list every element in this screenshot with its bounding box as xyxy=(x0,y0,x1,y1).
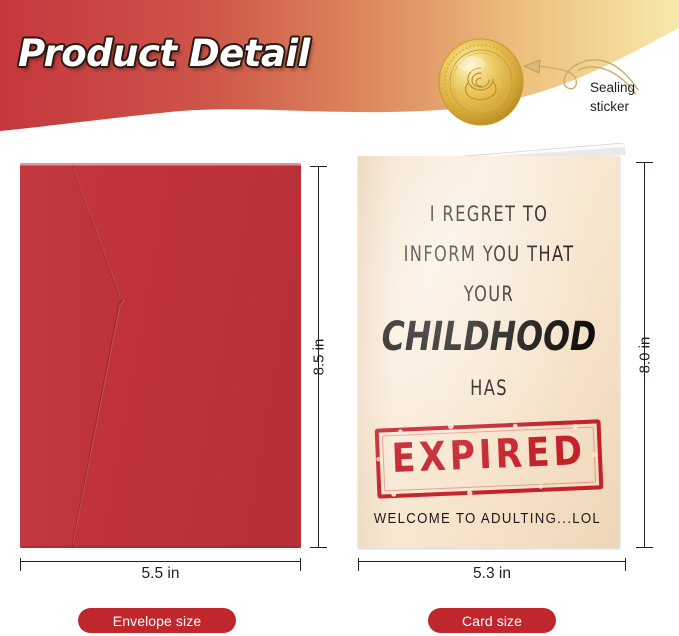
card-size-badge-label: Card size xyxy=(462,613,522,629)
card-size-badge: Card size xyxy=(428,608,556,633)
card-line-has: HAS xyxy=(376,378,601,399)
product-detail-page: Product Detail xyxy=(0,0,679,636)
dimension-cap-bottom xyxy=(636,547,653,548)
page-title: Product Detail xyxy=(18,32,310,75)
sealing-sticker-label-line1: Sealing xyxy=(590,79,670,98)
sealing-sticker-seal xyxy=(437,38,525,126)
dimension-line xyxy=(20,561,301,562)
dimension-cap-top xyxy=(310,166,327,167)
envelope-width-label: 5.5 in xyxy=(20,565,301,583)
envelope-height-label: 8.5 in xyxy=(311,339,328,376)
sealing-sticker-label: Sealing sticker xyxy=(590,79,670,116)
envelope-size-badge-label: Envelope size xyxy=(113,613,201,629)
card-line-1: I REGRET TO xyxy=(376,204,601,225)
card-line-2: INFORM YOU THAT xyxy=(376,244,601,265)
envelope-image xyxy=(20,163,301,548)
gold-rose-seal-icon xyxy=(437,38,525,126)
card-width-dimension: 5.3 in xyxy=(358,558,626,588)
expired-stamp-text: EXPIRED xyxy=(380,430,598,479)
card-line-3: YOUR xyxy=(376,284,601,305)
dimension-line xyxy=(358,561,626,562)
envelope-width-dimension: 5.5 in xyxy=(20,558,301,588)
envelope-height-dimension: 8.5 in xyxy=(302,166,336,548)
envelope-size-badge: Envelope size xyxy=(78,608,236,633)
card-footer-text: WELCOME TO ADULTING...LOL xyxy=(374,510,605,527)
sealing-sticker-label-line2: sticker xyxy=(590,98,670,117)
card-height-dimension: 8.0 in xyxy=(628,162,662,548)
greeting-card-image: I REGRET TO INFORM YOU THAT YOUR CHILDHO… xyxy=(358,143,626,548)
envelope-shape xyxy=(20,163,301,548)
expired-stamp: EXPIRED xyxy=(375,419,604,498)
card-front-face: I REGRET TO INFORM YOU THAT YOUR CHILDHO… xyxy=(358,156,620,548)
card-width-label: 5.3 in xyxy=(358,565,626,583)
card-emphasis-word: CHILDHOOD xyxy=(374,317,605,357)
card-height-label: 8.0 in xyxy=(637,337,654,374)
dimension-cap-top xyxy=(636,162,653,163)
dimension-cap-bottom xyxy=(310,547,327,548)
